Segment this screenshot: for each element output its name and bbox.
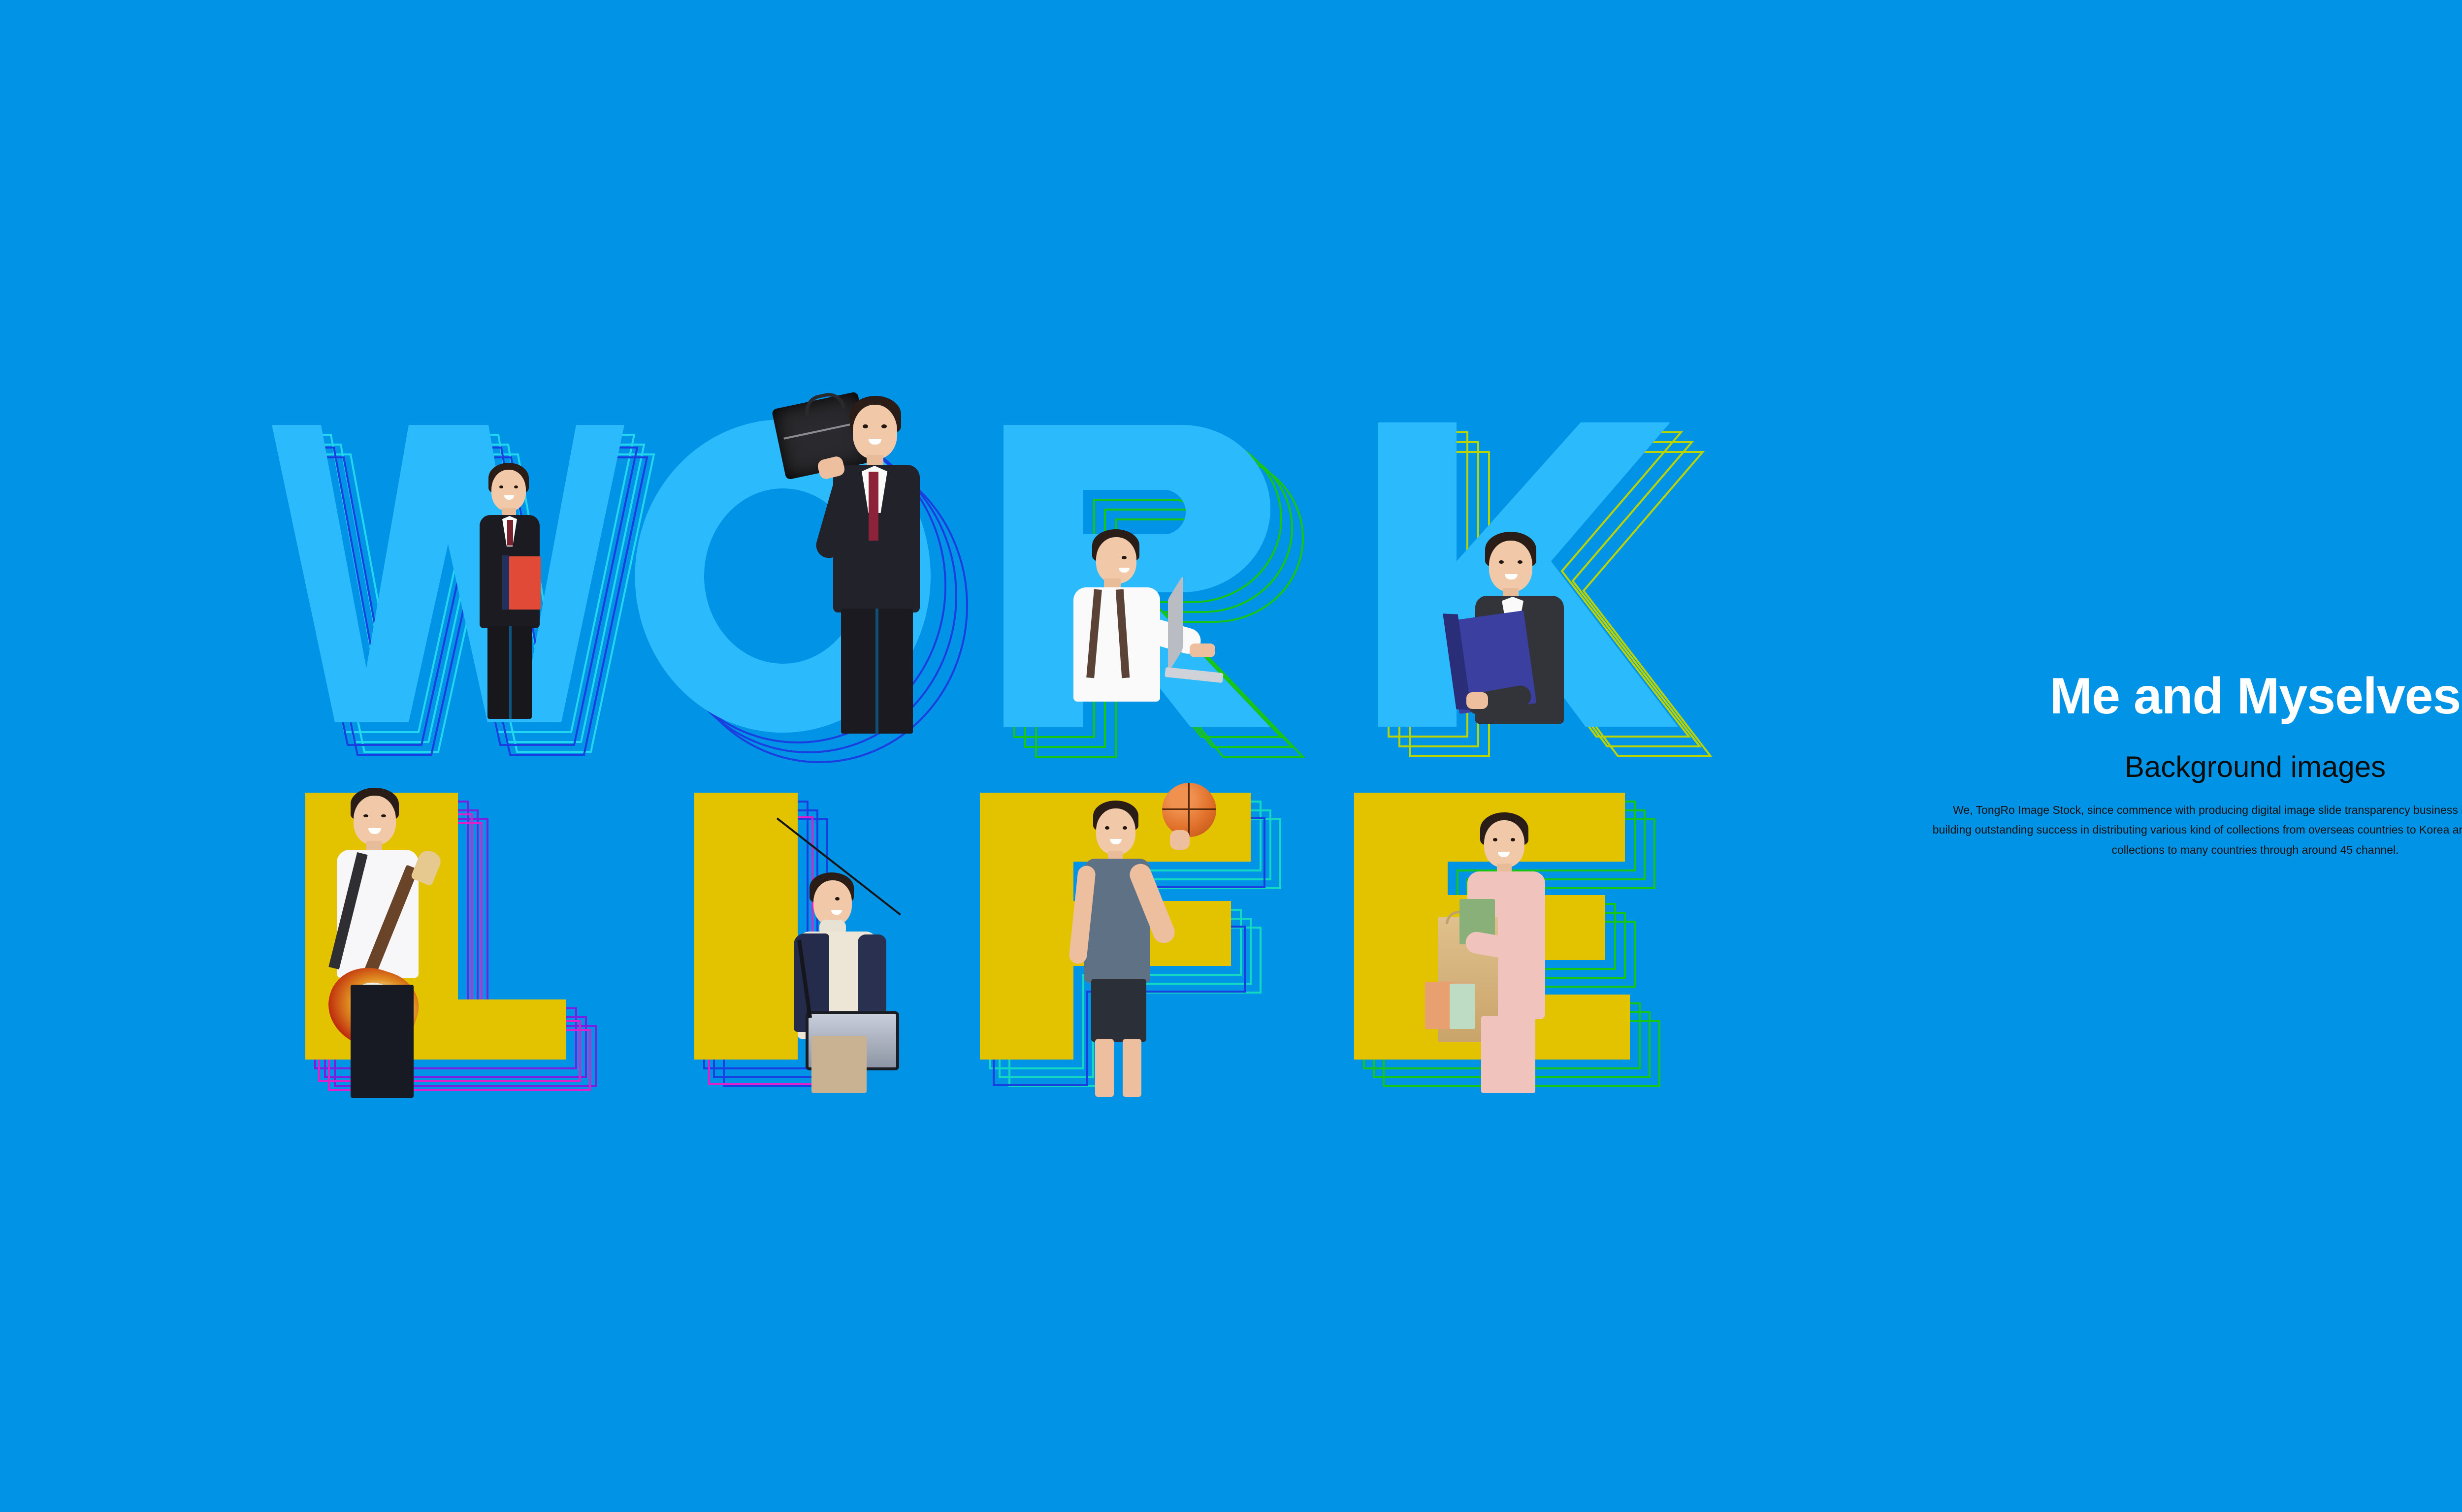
person-blue-binder xyxy=(1453,532,1590,739)
page-title: Me and Myselves xyxy=(1930,670,2462,723)
laptop-screen xyxy=(1168,576,1183,673)
shopping-bag-mint xyxy=(1450,984,1475,1029)
person-suit-briefcase xyxy=(778,394,926,734)
poster-canvas: Me and Myselves Background images We, To… xyxy=(0,0,2462,1512)
backpack xyxy=(858,934,886,1021)
person-guitar xyxy=(325,788,473,1098)
copy-block: Me and Myselves Background images We, To… xyxy=(1930,670,2462,860)
person-fishing xyxy=(768,817,931,1093)
body-paragraph: We, TongRo Image Stock, since commence w… xyxy=(1930,800,2462,860)
person-shopping xyxy=(1418,812,1566,1093)
laptop-base xyxy=(1165,667,1223,683)
person-laptop xyxy=(1064,529,1221,726)
person-suit-red-folder xyxy=(463,463,556,719)
page-subtitle: Background images xyxy=(1930,751,2462,783)
letter-W xyxy=(261,416,635,731)
person-basketball xyxy=(1073,783,1236,1098)
